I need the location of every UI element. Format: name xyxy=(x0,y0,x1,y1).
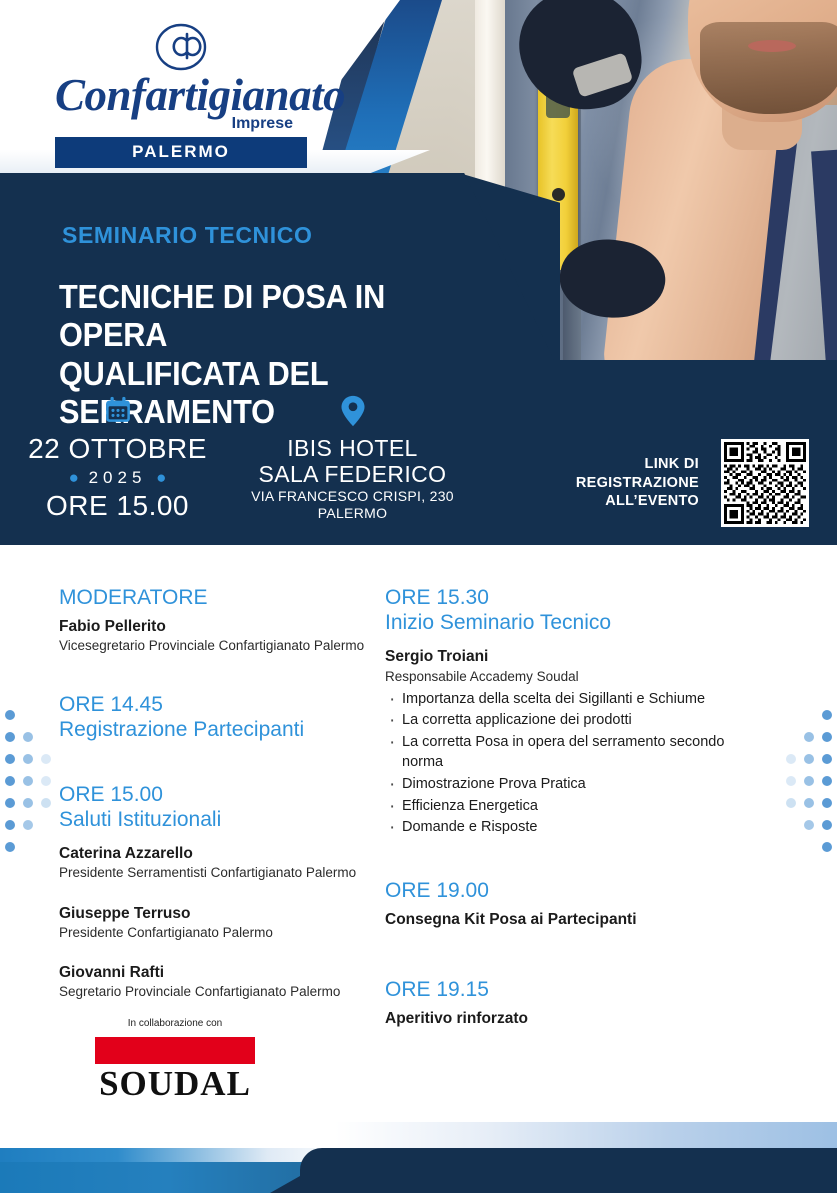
slot-time: ORE 19.00 xyxy=(385,878,755,903)
person-role: Responsabile Accademy Soudal xyxy=(385,668,755,686)
collab-label: In collaborazione con xyxy=(75,1018,275,1029)
year-dot-right: ● xyxy=(156,468,166,487)
event-year-value: 2025 xyxy=(89,468,147,487)
person: Giuseppe Terruso Presidente Confartigian… xyxy=(59,904,365,942)
slot-title: Registrazione Partecipanti xyxy=(59,717,365,742)
registration-label: LINK DI REGISTRAZIONE ALL’EVENTO xyxy=(576,455,699,511)
person: Sergio Troiani Responsabile Accademy Sou… xyxy=(385,647,755,685)
map-pin-icon xyxy=(340,395,366,427)
person: Giovanni Rafti Segretario Provinciale Co… xyxy=(59,963,365,1001)
soudal-red-bar xyxy=(95,1037,255,1064)
topic-list: Importanza della scelta dei Sigillanti e… xyxy=(385,689,755,838)
program-slot: ORE 15.30 Inizio Seminario Tecnico Sergi… xyxy=(385,585,755,838)
person-name: Giuseppe Terruso xyxy=(59,904,365,924)
list-item: La corretta Posa in opera del serramento… xyxy=(385,732,755,773)
seminar-eyebrow: SEMINARIO TECNICO xyxy=(62,222,312,249)
event-venue-block: IBIS HOTEL SALA FEDERICO VIA FRANCESCO C… xyxy=(235,395,470,522)
slot-time: ORE 15.30 xyxy=(385,585,755,610)
logo-wordmark: Confartigianato xyxy=(55,74,307,117)
year-dot-left: ● xyxy=(69,468,79,487)
venue-city: PALERMO xyxy=(235,505,470,522)
registration-label-line3: ALL’EVENTO xyxy=(576,492,699,511)
partner-block: In collaborazione con SOUDAL xyxy=(75,1018,275,1103)
person-name: Sergio Troiani xyxy=(385,647,755,667)
program-slot: ORE 19.15 Aperitivo rinforzato xyxy=(385,977,755,1028)
slot-title: Inizio Seminario Tecnico xyxy=(385,610,755,635)
circled-a-icon xyxy=(154,22,208,72)
venue-room: SALA FEDERICO xyxy=(235,461,470,487)
slot-time: ORE 14.45 xyxy=(59,692,365,717)
logo-chapter-bar: PALERMO xyxy=(55,137,307,168)
program-schedule: MODERATORE Fabio Pellerito Vicesegretari… xyxy=(0,565,837,1054)
program-slot: MODERATORE Fabio Pellerito Vicesegretari… xyxy=(59,585,365,656)
event-meta: 22 OTTOBRE ● 2025 ● ORE 15.00 IBIS HOTEL… xyxy=(0,395,470,522)
confartigianato-logo: Confartigianato Imprese PALERMO xyxy=(55,22,307,168)
person-name: Giovanni Rafti xyxy=(59,963,365,983)
bottom-decorative-band xyxy=(0,1122,837,1193)
person-name: Caterina Azzarello xyxy=(59,844,365,864)
person-role: Vicesegretario Provinciale Confartigiana… xyxy=(59,637,365,655)
venue-name: IBIS HOTEL xyxy=(235,435,470,461)
person: Caterina Azzarello Presidente Serramenti… xyxy=(59,844,365,882)
event-date-block: 22 OTTOBRE ● 2025 ● ORE 15.00 xyxy=(0,395,235,522)
slot-time: ORE 15.00 xyxy=(59,782,365,807)
slot-bold-line: Aperitivo rinforzato xyxy=(385,1010,755,1028)
person-role: Presidente Serramentisti Confartigianato… xyxy=(59,864,365,882)
program-column-left: MODERATORE Fabio Pellerito Vicesegretari… xyxy=(0,565,375,1054)
registration-label-line2: REGISTRAZIONE xyxy=(576,474,699,493)
calendar-icon xyxy=(103,395,133,425)
list-item: Domande e Risposte xyxy=(385,817,755,838)
slot-bold-line: Consegna Kit Posa ai Partecipanti xyxy=(385,911,755,929)
slot-time: ORE 19.15 xyxy=(385,977,755,1002)
venue-address: VIA FRANCESCO CRISPI, 230 xyxy=(235,488,470,505)
list-item: Dimostrazione Prova Pratica xyxy=(385,774,755,795)
program-slot: ORE 14.45 Registrazione Partecipanti xyxy=(59,692,365,742)
event-year: ● 2025 ● xyxy=(0,468,235,488)
event-time: ORE 15.00 xyxy=(0,490,235,521)
person-name: Fabio Pellerito xyxy=(59,617,365,637)
program-slot: ORE 19.00 Consegna Kit Posa ai Partecipa… xyxy=(385,878,755,929)
registration-label-line1: LINK DI xyxy=(576,455,699,474)
list-item: La corretta applicazione dei prodotti xyxy=(385,710,755,731)
soudal-logo: SOUDAL xyxy=(95,1037,255,1103)
person: Fabio Pellerito Vicesegretario Provincia… xyxy=(59,617,365,655)
program-slot: ORE 15.00 Saluti Istituzionali Caterina … xyxy=(59,782,365,1001)
page-title-line1: TECNICHE DI POSA IN OPERA xyxy=(59,278,496,355)
event-poster: LINK DI REGISTRAZIONE ALL’EVENTO xyxy=(0,0,837,1193)
person-role: Presidente Confartigianato Palermo xyxy=(59,924,365,942)
slot-time: MODERATORE xyxy=(59,585,365,610)
list-item: Importanza della scelta dei Sigillanti e… xyxy=(385,689,755,710)
registration-panel[interactable]: LINK DI REGISTRAZIONE ALL’EVENTO xyxy=(483,421,837,545)
person-role: Segretario Provinciale Confartigianato P… xyxy=(59,983,365,1001)
qr-code-icon[interactable] xyxy=(721,439,809,527)
event-date: 22 OTTOBRE xyxy=(0,433,235,464)
program-column-right: ORE 15.30 Inizio Seminario Tecnico Sergi… xyxy=(375,565,775,1054)
slot-title: Saluti Istituzionali xyxy=(59,807,365,832)
list-item: Efficienza Energetica xyxy=(385,796,755,817)
soudal-wordmark: SOUDAL xyxy=(95,1066,255,1103)
